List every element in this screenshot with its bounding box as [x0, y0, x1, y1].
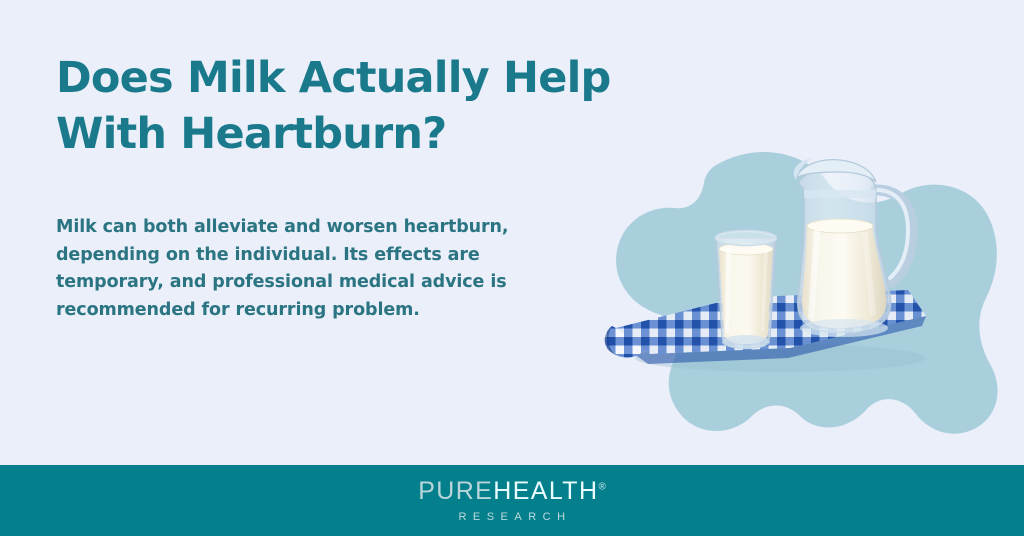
page-title: Does Milk Actually Help With Heartburn?	[56, 50, 686, 162]
promo-banner: Does Milk Actually Help With Heartburn? …	[0, 0, 1024, 536]
milk-photo	[590, 150, 1024, 460]
logo-wordmark: PUREHEALTH®	[418, 479, 606, 504]
footer-bar: PUREHEALTH® RESEARCH	[0, 465, 1024, 536]
logo-tagline: RESEARCH	[418, 512, 606, 523]
milk-glass	[716, 231, 776, 349]
logo-health-text: HEALTH	[493, 477, 598, 505]
logo-pure-text: PURE	[418, 477, 493, 505]
summary-paragraph: Milk can both alleviate and worsen heart…	[56, 214, 546, 324]
hero-artwork	[590, 150, 1024, 460]
brand-logo[interactable]: PUREHEALTH® RESEARCH	[418, 479, 606, 523]
registered-trademark-icon: ®	[598, 481, 605, 492]
